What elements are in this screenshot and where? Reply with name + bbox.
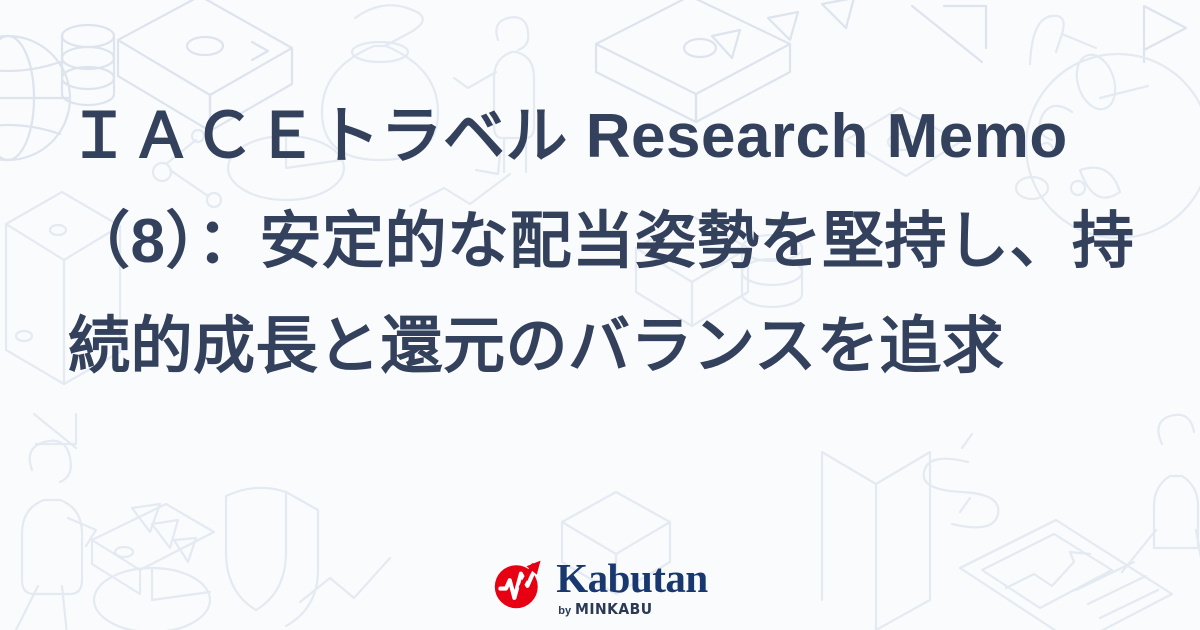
minkabu-brand-label: MINKABU: [575, 600, 653, 618]
dollar-sign-icon: [924, 434, 999, 527]
title-block: ＩＡＣＥトラベル Research Memo（8）：安定的な配当姿勢を堅持し、持…: [68, 84, 1143, 399]
logo-by-label: by: [558, 605, 571, 617]
flag-icon: [1144, 6, 1186, 62]
kabutan-chart-arrow-mark: [492, 555, 548, 611]
arrow-down-right-icon: [912, 6, 986, 62]
page-title: ＩＡＣＥトラベル Research Memo（8）：安定的な配当姿勢を堅持し、持…: [68, 84, 1143, 399]
logo-byline: by MINKABU: [556, 600, 658, 618]
kabutan-wordmark: Kabutan: [556, 559, 707, 598]
globe-icon: [0, 36, 70, 160]
kabutan-logo[interactable]: Kabutan by MINKABU: [0, 553, 1200, 618]
triangle-cluster-icon: [712, 0, 854, 58]
arrow-down-right-icon: [34, 414, 76, 448]
line-chart-icon: [1030, 16, 1096, 64]
article-share-card: ＩＡＣＥトラベル Research Memo（8）：安定的な配当姿勢を堅持し、持…: [0, 0, 1200, 630]
